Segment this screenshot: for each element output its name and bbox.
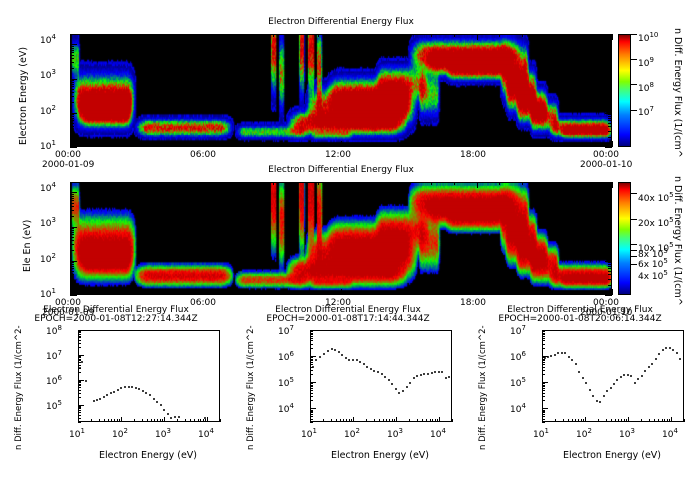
panel-2-xtick	[544, 292, 545, 295]
spectrum-ytick-minor	[78, 356, 81, 357]
panel-2-xtick	[341, 182, 342, 188]
spectrum-ytick-minor	[542, 364, 545, 365]
spectrum-ytick-minor	[542, 385, 545, 386]
spectrum-ytick-minor	[310, 348, 313, 349]
spectrogram-canvas	[71, 35, 612, 147]
spectrum-ytick-minor	[542, 386, 545, 387]
spectrum-xtick-minor	[452, 419, 453, 422]
panel-2-ytick-minor	[70, 271, 74, 272]
panel-2-ytick-major	[70, 192, 77, 193]
data-point	[370, 368, 372, 370]
spectrum-ytick-minor	[542, 374, 545, 375]
data-point	[142, 390, 144, 392]
spectrum-xtick-mark	[628, 417, 629, 422]
spectrum-ytick-minor	[542, 388, 545, 389]
spectrum-xtick-minor	[323, 419, 324, 422]
data-point	[679, 358, 681, 360]
spectrum-ytick-minor	[78, 347, 81, 348]
spectrum-ytick-minor	[78, 331, 81, 332]
panel-1-spectrogram: Electron Differential Energy Flux Electr…	[0, 0, 697, 168]
panel-2-xtick	[612, 289, 613, 295]
spectrum-ytick-minor	[310, 340, 313, 341]
spectrum-ytick: 107	[46, 349, 62, 362]
spectrum-ytick-minor	[542, 422, 545, 423]
panel-1-ytick-minor	[70, 123, 74, 124]
spectrum-ytick-minor	[542, 338, 545, 339]
panel-2-ytick-minor	[608, 198, 612, 199]
data-point	[603, 395, 605, 397]
panel-1-ytick-minor	[70, 50, 74, 51]
data-point	[662, 349, 664, 351]
panel-1-xtick	[454, 144, 455, 147]
spectrum-xtick-minor	[555, 419, 556, 422]
panel-2-xtick	[138, 182, 139, 185]
panel-1-ytick-major	[605, 113, 612, 114]
spectrum-ytick-minor	[78, 384, 81, 385]
panel-2-ytick-minor	[70, 237, 74, 238]
panel-1-xtick	[477, 141, 478, 147]
data-point	[420, 374, 422, 376]
panel-1-ytick-minor	[608, 131, 612, 132]
spectrum-xtick-minor	[641, 419, 642, 422]
spectrum-ytick-minor	[542, 393, 545, 394]
panel-1-ytick-major	[605, 44, 612, 45]
panel-2-xtick	[431, 292, 432, 295]
spectrum-ytick-minor	[78, 359, 81, 360]
data-point	[402, 390, 404, 392]
spectrum-ytick: 106	[46, 374, 62, 387]
spectrum-ytick-minor	[542, 348, 545, 349]
spectrum-xtick-minor	[194, 419, 195, 422]
panel-1-ytick-minor	[608, 96, 612, 97]
colorbar-tick	[631, 193, 637, 194]
panel-2-ytick-major	[70, 295, 77, 296]
spectrum-xtick-mark	[585, 417, 586, 422]
spectrum-ytick-minor	[310, 364, 313, 365]
colorbar-tick	[631, 219, 637, 220]
panel-2-ytick-minor	[70, 285, 74, 286]
panel-1-ytick-minor	[608, 118, 612, 119]
panel-2-cbtick-4: 20x 105	[638, 216, 674, 229]
panel-2-xtick	[589, 182, 590, 185]
panel-1-ytick-minor	[608, 86, 612, 87]
panel-1-xtick	[93, 34, 94, 37]
spectrum-ytick-minor	[78, 407, 81, 408]
panel-1-ytick-minor	[70, 52, 74, 53]
panel-2-ytick-major	[70, 227, 77, 228]
panel-2-xtick	[93, 292, 94, 295]
panel-1-ytick-minor	[608, 102, 612, 103]
panel-2-ytick-0: 101	[40, 287, 56, 300]
spectrum-ytick-minor	[542, 333, 545, 334]
spectrum-ytick: 106	[510, 350, 526, 363]
colorbar-tick	[631, 256, 637, 257]
spectrum-ytick: 107	[510, 324, 526, 337]
spectrum-xtick-minor	[157, 419, 158, 422]
panel-2-ytick-minor	[70, 210, 74, 211]
spectrum-ytick-minor	[310, 331, 313, 332]
spectrum-ytick-minor	[542, 340, 545, 341]
spectrum-xtick-minor	[422, 419, 423, 422]
spectrum-xtick-minor	[177, 419, 178, 422]
spectrum-ytick-minor	[542, 367, 545, 368]
spectrum-ytick-minor	[310, 414, 313, 415]
panel-1-cbtick-1: 108	[638, 81, 654, 94]
panel-1-xtick	[364, 144, 365, 147]
spectrum-ytick: 105	[46, 399, 62, 412]
spectrum-xtick-minor	[154, 419, 155, 422]
spectrum-xtick-minor	[336, 419, 337, 422]
data-point	[676, 352, 678, 354]
spectrum-ytick-minor	[542, 410, 545, 411]
panel-1-ytick-minor	[70, 46, 74, 47]
data-point	[592, 395, 594, 397]
spectrum-ytick-minor	[310, 388, 313, 389]
panel-2-ytick-minor	[608, 237, 612, 238]
panel-2-xtick	[296, 182, 297, 185]
panel-1-xtick	[273, 34, 274, 37]
panel-1-ytick-minor	[70, 131, 74, 132]
spectrum-ytick-minor	[78, 387, 81, 388]
spectrum-xtick-minor	[578, 419, 579, 422]
spectrum-ytick-minor	[78, 340, 81, 341]
panel-2-ytick-minor	[70, 196, 74, 197]
panel-1-ytick-minor	[608, 116, 612, 117]
panel-1-xtick	[431, 144, 432, 147]
spectrum-ytick-minor	[310, 334, 313, 335]
spectrum-xtick-minor	[654, 419, 655, 422]
panel-1-xtick	[386, 144, 387, 147]
spectrum-ytick-minor	[78, 368, 81, 369]
data-point	[634, 382, 636, 384]
spectrum-xtick-minor	[575, 419, 576, 422]
panel-2-ytick-minor	[608, 250, 612, 251]
spectrum-xtick-minor	[190, 419, 191, 422]
panel-1-ytick-minor	[70, 55, 74, 56]
spectrum-xtick-minor	[568, 419, 569, 422]
spectrum-xtick-minor	[142, 419, 143, 422]
panel-2-ytick-minor	[70, 266, 74, 267]
data-point	[651, 363, 653, 365]
spectrum-xlabel: Electron Energy (eV)	[280, 450, 480, 461]
panel-1-xtick	[477, 34, 478, 40]
panel-1-ytick-minor	[70, 96, 74, 97]
panel-1-ytick-minor	[70, 114, 74, 115]
spectrum-xtick-minor	[185, 419, 186, 422]
data-point	[620, 376, 622, 378]
panel-1-xtick	[409, 144, 410, 147]
data-point	[578, 371, 580, 373]
panel-2-xtick	[589, 292, 590, 295]
spectrum-xtick-minor	[432, 419, 433, 422]
spectrum-xtick-minor	[91, 419, 92, 422]
panel-1-ytick-minor	[70, 82, 74, 83]
colorbar-tick	[631, 84, 637, 85]
panel-2-ytick-minor	[70, 232, 74, 233]
spectrum-ytick-minor	[310, 370, 313, 371]
panel-1-ytick-0: 101	[40, 139, 56, 152]
panel-2-xtick	[318, 292, 319, 295]
panel-1-ytick-minor	[70, 92, 74, 93]
panel-1-xtick	[499, 34, 500, 37]
spectrum-xtick-minor	[343, 419, 344, 422]
spectrum-xtick: 103	[155, 427, 171, 440]
spectrum-xtick: 101	[533, 427, 549, 440]
spectrum-ytick-minor	[310, 362, 313, 363]
panel-2-xtick	[522, 292, 523, 295]
data-point	[167, 413, 169, 415]
panel-2-ytick-minor	[70, 262, 74, 263]
panel-1-cbtick-2: 109	[638, 56, 654, 69]
spectrum-ytick-minor	[78, 336, 81, 337]
panel-1-xtick	[431, 34, 432, 37]
panel-1-ytick-1: 102	[40, 104, 56, 117]
panel-2-colorbar	[618, 182, 631, 295]
panel-1-xtick	[589, 34, 590, 37]
data-point	[359, 361, 361, 363]
data-point	[327, 350, 329, 352]
panel-2-ytick-minor	[70, 200, 74, 201]
spectrum-xtick-minor	[351, 419, 352, 422]
spectrum-ytick-minor	[542, 390, 545, 391]
spectrum-xtick: 104	[662, 427, 678, 440]
spectrum-epoch: EPOCH=2000-01-08T17:14:44.344Z	[232, 314, 464, 324]
spectrum-ytick-minor	[310, 336, 313, 337]
spectrum-xtick-mark	[310, 417, 311, 422]
spectrum-ytick-minor	[78, 357, 81, 358]
spectrum-ytick-minor	[78, 332, 81, 333]
spectrum-epoch: EPOCH=2000-01-08T12:27:14.344Z	[0, 314, 232, 324]
colorbar-tick	[631, 250, 637, 251]
spectrum-ytick-minor	[310, 410, 313, 411]
spectrum-xtick-minor	[117, 419, 118, 422]
data-point	[331, 348, 333, 350]
data-point	[388, 379, 390, 381]
panel-1-xtick	[341, 141, 342, 147]
panel-2-xtick	[93, 182, 94, 185]
panel-1-ytick-minor	[608, 52, 612, 53]
spectrum-xtick-minor	[198, 419, 199, 422]
panel-1-ytick-minor	[608, 114, 612, 115]
spectrum-xtick-minor	[606, 419, 607, 422]
panel-1-cbtick-0: 107	[638, 105, 654, 118]
spectrum-xlabel: Electron Energy (eV)	[512, 450, 697, 461]
panel-2-xtick	[364, 292, 365, 295]
panel-1-colorbar-label: n Diff. Energy Flux (1/(cm^	[683, 28, 697, 39]
panel-2-ytick-minor	[608, 279, 612, 280]
panel-1-xtick	[612, 141, 613, 147]
panel-1-ytick-minor	[608, 68, 612, 69]
spectrum-xtick-minor	[611, 419, 612, 422]
panel-2-xtick	[206, 182, 207, 188]
panel-1-ytick-minor	[608, 137, 612, 138]
spectrum-ytick-minor	[542, 383, 545, 384]
panel-2-ytick-minor	[608, 206, 612, 207]
spectrum-xtick-minor	[598, 419, 599, 422]
panel-1-xtick	[251, 34, 252, 37]
panel-2-ytick-minor	[608, 274, 612, 275]
panel-1-ytick-minor	[70, 102, 74, 103]
data-point	[323, 353, 325, 355]
colorbar-tick	[631, 34, 637, 35]
spectrum-xtick: 102	[576, 427, 592, 440]
panel-2-xtick	[477, 289, 478, 295]
panel-2-ytick-minor	[608, 210, 612, 211]
panel-1-xtick	[138, 34, 139, 37]
data-point	[669, 347, 671, 349]
panel-2-xtick	[251, 182, 252, 185]
panel-2-xtick	[160, 292, 161, 295]
panel-1-xtick	[160, 34, 161, 37]
panel-1-ytick-minor	[608, 62, 612, 63]
panel-1-xtick	[251, 144, 252, 147]
spectrum-xtick-minor	[572, 419, 573, 422]
spectrum-xtick-minor	[394, 419, 395, 422]
panel-1-xtick-2: 12:00	[325, 150, 351, 160]
panel-2-xtick	[70, 289, 71, 295]
panel-1-xtick-4: 00:00	[593, 150, 619, 160]
data-point	[156, 401, 158, 403]
spectrum-xtick-minor	[200, 419, 201, 422]
spectrum-ytick-minor	[78, 406, 81, 407]
spectrum-xtick-minor	[417, 419, 418, 422]
spectrum-xtick-minor	[669, 419, 670, 422]
spectrum-ytick-minor	[542, 412, 545, 413]
spectrum-ytick-minor	[78, 415, 81, 416]
panel-1-xtick	[228, 144, 229, 147]
spectrum-ytick-minor	[542, 331, 545, 332]
data-point	[589, 389, 591, 391]
panel-1-ytick-minor	[608, 50, 612, 51]
panel-2-xtick	[567, 182, 568, 185]
data-point	[585, 382, 587, 384]
spectrum-ytick-minor	[542, 396, 545, 397]
panel-2-ytick-minor	[70, 250, 74, 251]
panel-2-ytick-major	[605, 192, 612, 193]
spectrum-xtick: 102	[344, 427, 360, 440]
data-point	[427, 373, 429, 375]
panel-2-ytick-minor	[608, 194, 612, 195]
panel-1-xtick	[341, 34, 342, 40]
spectrum-ytick-minor	[310, 396, 313, 397]
panel-2-xtick	[431, 182, 432, 185]
data-point	[363, 363, 365, 365]
spectrum-xtick-minor	[160, 419, 161, 422]
spectrum-ytick-minor	[310, 338, 313, 339]
spectrum-ytick-minor	[78, 337, 81, 338]
panel-1-xtick	[589, 144, 590, 147]
spectrum-xtick-minor	[331, 419, 332, 422]
panel-1-xtick	[228, 34, 229, 37]
spectrum-xtick-minor	[99, 419, 100, 422]
panel-2-xtick	[251, 292, 252, 295]
panel-1-xtick	[296, 34, 297, 37]
data-point	[406, 386, 408, 388]
spectrum-ytick: 105	[278, 376, 294, 389]
spectrum-xtick-minor	[626, 419, 627, 422]
spectrum-ytick-minor	[78, 412, 81, 413]
spectrum-ytick-minor	[542, 370, 545, 371]
spectrum-xtick-minor	[662, 419, 663, 422]
spectrum-ytick-minor	[310, 357, 313, 358]
panel-1-xtick	[206, 141, 207, 147]
panel-1-ytick-minor	[70, 89, 74, 90]
panel-2-ytick-minor	[608, 244, 612, 245]
spectrum-xtick-minor	[134, 419, 135, 422]
spectrum-xtick-minor	[615, 419, 616, 422]
spectrum-xtick: 104	[430, 427, 446, 440]
data-point	[596, 400, 598, 402]
spectrum-ytick-minor	[542, 362, 545, 363]
spectrum-xtick: 101	[301, 427, 317, 440]
panel-2-xtick	[183, 292, 184, 295]
panel-2-ytick-minor	[608, 234, 612, 235]
panel-1-xtick	[567, 144, 568, 147]
spectrum-xtick-minor	[374, 419, 375, 422]
spectrum-xtick-minor	[435, 419, 436, 422]
data-point	[153, 398, 155, 400]
panel-1-ytick-minor	[70, 62, 74, 63]
panel-2-ytick-minor	[70, 203, 74, 204]
panel-2-cbtick-5: 40x 105	[638, 191, 674, 204]
spectrum-xtick-minor	[220, 419, 221, 422]
spectrum-plot-area	[310, 330, 452, 422]
spectrum-xtick-minor	[392, 419, 393, 422]
spectrum-ytick-minor	[78, 343, 81, 344]
spectrum-xtick-minor	[203, 419, 204, 422]
panel-1-ytick-minor	[608, 82, 612, 83]
spectrum-ytick-minor	[78, 382, 81, 383]
data-point	[334, 349, 336, 351]
panel-2-xtick	[522, 182, 523, 185]
panel-2-ytick-minor	[70, 240, 74, 241]
panel-2-xtick	[138, 292, 139, 295]
spectrum-epoch: EPOCH=2000-01-08T20:06:14.344Z	[464, 314, 696, 324]
spectrum-ytick: 107	[278, 324, 294, 337]
panel-1-xtick	[522, 34, 523, 37]
spectrum-ytick: 104	[278, 402, 294, 415]
spectrum-ytick-minor	[310, 412, 313, 413]
spectrum-panel-3: Electron Differential Energy FluxEPOCH=2…	[464, 300, 696, 492]
data-point	[395, 388, 397, 390]
data-point	[345, 357, 347, 359]
panel-1-ytick-minor	[608, 46, 612, 47]
colorbar-tick	[631, 244, 637, 245]
panel-2-xtick	[477, 182, 478, 188]
panel-2-ytick-minor	[608, 268, 612, 269]
spectrum-ytick-minor	[542, 360, 545, 361]
data-point	[160, 404, 162, 406]
panel-1-ytick-major	[605, 79, 612, 80]
panel-2-ytick-minor	[608, 232, 612, 233]
spectrum-xtick-minor	[205, 419, 206, 422]
panel-2-xtick	[544, 182, 545, 185]
spectrum-ytick-minor	[310, 333, 313, 334]
panel-1-xtick	[93, 144, 94, 147]
panel-2-xtick	[228, 292, 229, 295]
panel-1-ytick-minor	[608, 58, 612, 59]
data-point	[568, 356, 570, 358]
panel-2-ytick-minor	[70, 268, 74, 269]
data-point	[445, 377, 447, 379]
panel-2-xtick	[499, 182, 500, 185]
panel-2-xtick	[499, 292, 500, 295]
panel-1-xtick	[115, 34, 116, 37]
panel-2-ytick-minor	[70, 228, 74, 229]
spectrum-ytick: 108	[46, 324, 62, 337]
panel-2-ytick-1: 102	[40, 252, 56, 265]
panel-2-ytick-minor	[70, 264, 74, 265]
